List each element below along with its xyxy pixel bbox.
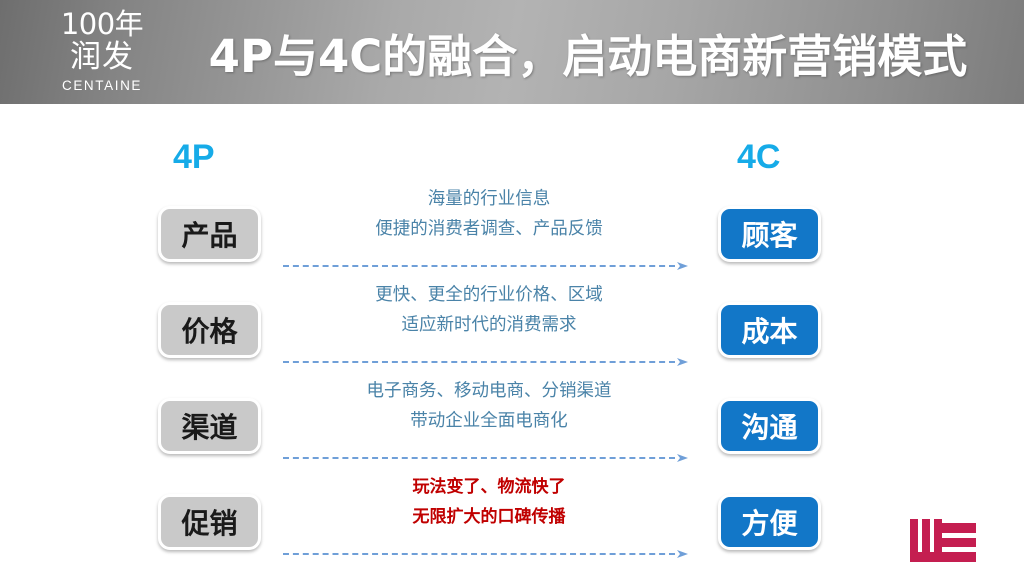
- pill-4p-place[interactable]: 渠道: [158, 398, 261, 454]
- row-description-line: 适应新时代的消费需求: [285, 310, 693, 340]
- flow-arrow: [283, 452, 689, 464]
- arrowhead-icon: [677, 548, 689, 560]
- mapping-row: 促销 玩法变了、物流快了 无限扩大的口碑传播 方便: [0, 476, 1024, 572]
- pill-4p-promotion[interactable]: 促销: [158, 494, 261, 550]
- pill-4c-communication[interactable]: 沟通: [718, 398, 821, 454]
- slide-header: 100年 润发 CENTAINE 4P与4C的融合，启动电商新营销模式: [0, 0, 1024, 104]
- logo-line-centaine: CENTAINE: [46, 79, 158, 93]
- mapping-row: 渠道 电子商务、移动电商、分销渠道 带动企业全面电商化 沟通: [0, 380, 1024, 476]
- arrowhead-icon: [677, 452, 689, 464]
- pill-4p-product[interactable]: 产品: [158, 206, 261, 262]
- dashed-line: [283, 265, 675, 267]
- row-description-line: 电子商务、移动电商、分销渠道: [285, 376, 693, 406]
- dashed-line: [283, 457, 675, 459]
- dashed-line: [283, 361, 675, 363]
- row-description: 电子商务、移动电商、分销渠道 带动企业全面电商化: [285, 376, 693, 436]
- logo-line-runfa: 润发: [46, 42, 158, 73]
- pill-4c-cost[interactable]: 成本: [718, 302, 821, 358]
- pill-4c-customer[interactable]: 顾客: [718, 206, 821, 262]
- mapping-row: 产品 海量的行业信息 便捷的消费者调查、产品反馈 顾客: [0, 188, 1024, 284]
- row-description-line: 便捷的消费者调查、产品反馈: [285, 214, 693, 244]
- column-heading-4p: 4P: [173, 138, 215, 177]
- row-description-line: 玩法变了、物流快了: [285, 472, 693, 502]
- row-description: 玩法变了、物流快了 无限扩大的口碑传播: [285, 472, 693, 532]
- we-brand-logo: [910, 519, 976, 562]
- column-heading-4c: 4C: [737, 138, 780, 177]
- pill-4c-convenience[interactable]: 方便: [718, 494, 821, 550]
- row-description-line: 海量的行业信息: [285, 184, 693, 214]
- logo-line-100years: 100年: [46, 10, 158, 39]
- row-description: 海量的行业信息 便捷的消费者调查、产品反馈: [285, 184, 693, 244]
- row-description-line: 带动企业全面电商化: [285, 406, 693, 436]
- arrowhead-icon: [677, 260, 689, 272]
- mapping-row: 价格 更快、更全的行业价格、区域 适应新时代的消费需求 成本: [0, 284, 1024, 380]
- flow-arrow: [283, 548, 689, 560]
- centaine-logo: 100年 润发 CENTAINE: [46, 8, 158, 98]
- arrowhead-icon: [677, 356, 689, 368]
- row-description: 更快、更全的行业价格、区域 适应新时代的消费需求: [285, 280, 693, 340]
- dashed-line: [283, 553, 675, 555]
- page-title: 4P与4C的融合，启动电商新营销模式: [178, 0, 998, 104]
- row-description-line: 无限扩大的口碑传播: [285, 502, 693, 532]
- row-description-line: 更快、更全的行业价格、区域: [285, 280, 693, 310]
- flow-arrow: [283, 260, 689, 272]
- pill-4p-price[interactable]: 价格: [158, 302, 261, 358]
- flow-arrow: [283, 356, 689, 368]
